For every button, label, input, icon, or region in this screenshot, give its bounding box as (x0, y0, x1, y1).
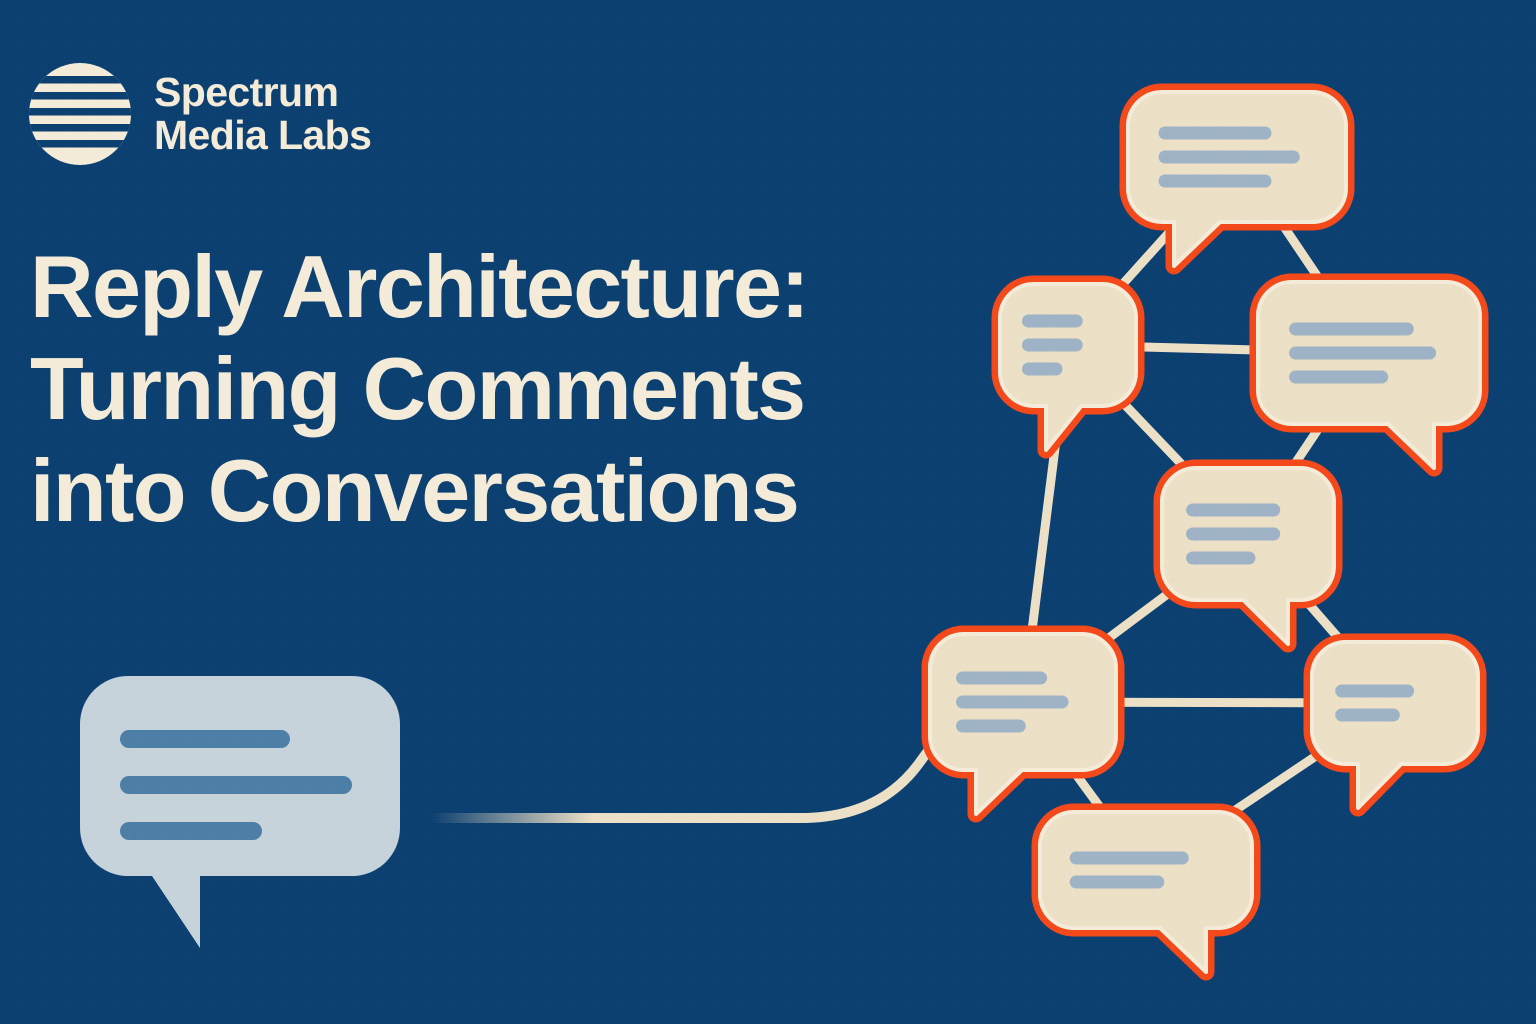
bubble-mid-right (1312, 642, 1478, 808)
hero-speech-bubble (80, 676, 400, 948)
bubble-text-line (1186, 504, 1280, 517)
bubble-text-line (1186, 552, 1255, 565)
curved-connector-line (432, 700, 965, 818)
bubble-text-line (1159, 151, 1300, 164)
bubble-text-line (1289, 347, 1436, 360)
bubble-text-line (1159, 127, 1272, 140)
poster-canvas: Spectrum Media Labs Reply Architecture: … (0, 0, 1536, 1024)
network-nodes (930, 92, 1480, 972)
bubble-text-line (1022, 339, 1083, 352)
bubble-text-line (1335, 685, 1414, 698)
brand-name-line-1: Spectrum (154, 71, 371, 114)
bubble-text-line (956, 672, 1047, 685)
brand-name: Spectrum Media Labs (154, 71, 371, 156)
bubble-inner-edge (1040, 812, 1252, 972)
brand-name-line-2: Media Labs (154, 114, 371, 157)
bubble-inner-edge (1312, 642, 1478, 808)
headline-line-2: Turning Comments (30, 338, 960, 440)
bubble-text-line (1186, 528, 1280, 541)
bubble-upper-left (1000, 284, 1136, 450)
striped-circle-logo-icon (28, 62, 132, 166)
bubble-center (1162, 468, 1334, 644)
bubble-text-line (1022, 363, 1062, 376)
hero-bubble-line-1 (120, 730, 290, 748)
headline-line-1: Reply Architecture: (30, 236, 960, 338)
bubble-bottom (1040, 812, 1252, 972)
bubble-upper-right (1258, 282, 1480, 468)
bubble-text-line (1159, 175, 1272, 188)
brand-lockup: Spectrum Media Labs (28, 62, 371, 166)
bubble-text-line (1070, 852, 1189, 865)
hero-bubble-line-2 (120, 776, 352, 794)
bubble-inner-edge (1000, 284, 1136, 450)
bubble-text-line (956, 720, 1026, 733)
bubble-text-line (1070, 876, 1165, 889)
page-title: Reply Architecture: Turning Comments int… (30, 236, 960, 542)
headline-line-3: into Conversations (30, 440, 960, 542)
bubble-text-line (956, 696, 1068, 709)
bubble-text-line (1022, 315, 1083, 328)
bubble-text-line (1335, 709, 1400, 722)
bubble-text-line (1289, 323, 1414, 336)
bubble-text-line (1289, 371, 1388, 384)
hero-bubble-line-3 (120, 822, 262, 840)
